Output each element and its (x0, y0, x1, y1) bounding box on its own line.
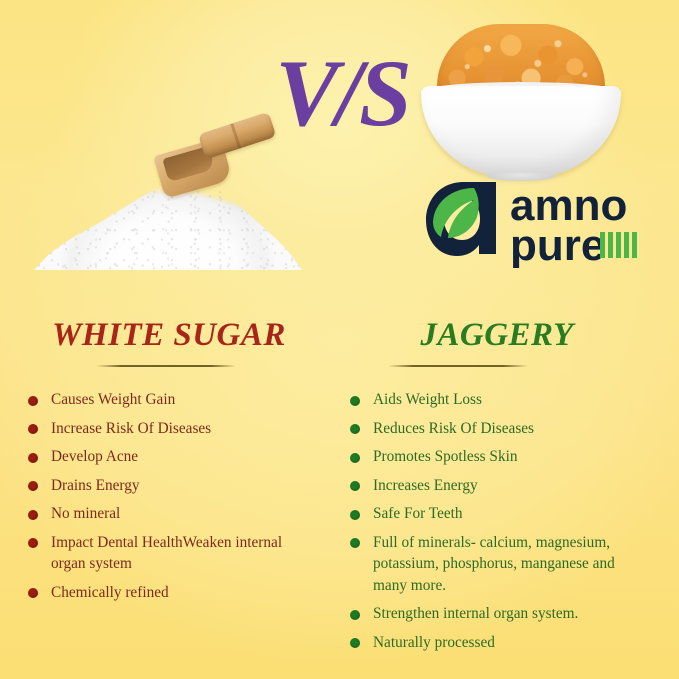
logo-text-pure: pure (510, 221, 605, 268)
column-white-sugar: WHITE SUGAR Causes Weight Gain Increase … (18, 300, 338, 610)
list-item-text: Chemically refined (51, 584, 169, 601)
list-item-text: Impact Dental HealthWeaken internal orga… (51, 534, 282, 573)
list-item: Causes Weight Gain (26, 389, 291, 411)
logo-green-bars-icon (600, 232, 637, 258)
list-item-text: Safe For Teeth (373, 505, 463, 522)
list-item: Aids Weight Loss (348, 389, 648, 411)
list-item: Full of minerals- calcium, magnesium, po… (348, 532, 648, 597)
list-item-text: Naturally processed (373, 634, 495, 651)
list-item: Reduces Risk Of Diseases (348, 418, 648, 440)
list-item: Chemically refined (26, 582, 291, 604)
list-item-text: Promotes Spotless Skin (373, 448, 518, 465)
list-item: Impact Dental HealthWeaken internal orga… (26, 532, 291, 575)
amno-pure-logo: amno pure (424, 176, 638, 268)
list-item: Naturally processed (348, 632, 648, 654)
comparison-columns: WHITE SUGAR Causes Weight Gain Increase … (0, 300, 679, 679)
versus-label: V/S (262, 42, 422, 144)
bullet-dot-icon (350, 481, 360, 491)
white-bowl (421, 86, 621, 178)
list-item: Develop Acne (26, 446, 291, 468)
list-item-text: Aids Weight Loss (373, 391, 482, 408)
list-item: Increase Risk Of Diseases (26, 418, 291, 440)
bullet-dot-icon (28, 424, 38, 434)
bullet-dot-icon (350, 424, 360, 434)
list-item-text: Full of minerals- calcium, magnesium, po… (373, 534, 615, 594)
list-item: Safe For Teeth (348, 503, 648, 525)
list-item-text: No mineral (51, 505, 120, 522)
white-sugar-points-list: Causes Weight Gain Increase Risk Of Dise… (26, 389, 291, 603)
list-item: Strengthen internal organ system. (348, 603, 648, 625)
bullet-dot-icon (28, 396, 38, 406)
column-jaggery: JAGGERY Aids Weight Loss Reduces Risk Of… (342, 300, 662, 660)
list-item: No mineral (26, 503, 291, 525)
bullet-dot-icon (28, 588, 38, 598)
bullet-dot-icon (350, 510, 360, 520)
bullet-dot-icon (350, 538, 360, 548)
white-sugar-heading: WHITE SUGAR (18, 314, 338, 356)
jaggery-bowl-photo (415, 16, 627, 186)
bullet-dot-icon (350, 638, 360, 648)
white-sugar-heading-rule (96, 365, 236, 367)
list-item-text: Drains Energy (51, 477, 140, 494)
list-item-text: Increases Energy (373, 477, 478, 494)
list-item: Promotes Spotless Skin (348, 446, 648, 468)
list-item: Increases Energy (348, 475, 648, 497)
bullet-dot-icon (350, 396, 360, 406)
list-item-text: Develop Acne (51, 448, 138, 465)
bullet-dot-icon (350, 453, 360, 463)
list-item: Drains Energy (26, 475, 291, 497)
list-item-text: Strengthen internal organ system. (373, 605, 578, 622)
bullet-dot-icon (28, 510, 38, 520)
jaggery-heading-rule (388, 365, 528, 367)
list-item-text: Increase Risk Of Diseases (51, 420, 211, 437)
bullet-dot-icon (28, 538, 38, 548)
list-item-text: Reduces Risk Of Diseases (373, 420, 534, 437)
list-item-text: Causes Weight Gain (51, 391, 175, 408)
jaggery-points-list: Aids Weight Loss Reduces Risk Of Disease… (348, 389, 648, 653)
bullet-dot-icon (28, 481, 38, 491)
jaggery-heading: JAGGERY (342, 314, 662, 356)
bullet-dot-icon (350, 610, 360, 620)
infographic-poster: V/S amno pure (0, 0, 679, 679)
bullet-dot-icon (28, 453, 38, 463)
